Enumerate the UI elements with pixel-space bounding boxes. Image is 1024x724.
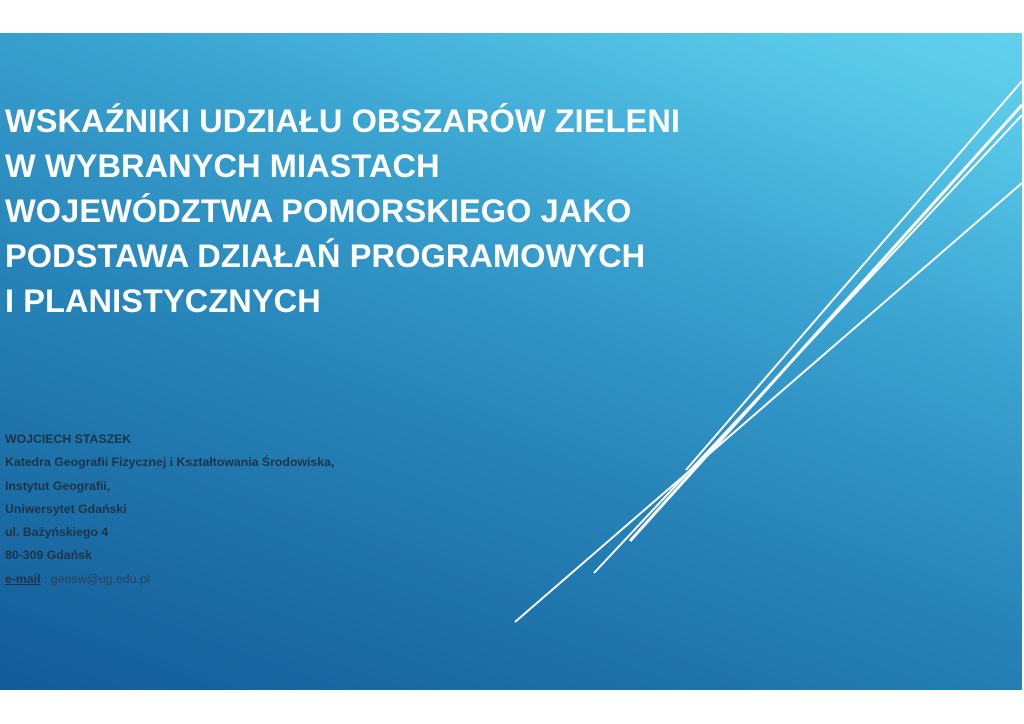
title-line-3: WOJEWÓDZTWA POMORSKIEGO JAKO <box>5 189 785 234</box>
author-contact-block: WOJCIECH STASZEK Katedra Geografii Fizyc… <box>5 428 565 591</box>
street-address: ul. Bażyńskiego 4 <box>5 521 565 544</box>
page-title: WSKAŹNIKI UDZIAŁU OBSZARÓW ZIELENI W WYB… <box>5 99 785 324</box>
university-name: Uniwersytet Gdański <box>5 498 565 521</box>
slide-background-panel: WSKAŹNIKI UDZIAŁU OBSZARÓW ZIELENI W WYB… <box>0 33 1022 690</box>
email-address[interactable]: : geosw@ug.edu.pl <box>41 572 150 586</box>
department-name: Katedra Geografii Fizycznej i Kształtowa… <box>5 451 565 474</box>
slide-root: WSKAŹNIKI UDZIAŁU OBSZARÓW ZIELENI W WYB… <box>0 0 1024 724</box>
email-row: e-mail : geosw@ug.edu.pl <box>5 568 565 591</box>
email-label: e-mail <box>5 572 41 586</box>
title-line-4: PODSTAWA DZIAŁAŃ PROGRAMOWYCH <box>5 234 785 279</box>
title-line-5: I PLANISTYCZNYCH <box>5 279 785 324</box>
author-name: WOJCIECH STASZEK <box>5 428 565 451</box>
title-line-2: W WYBRANYCH MIASTACH <box>5 144 785 189</box>
institute-name: Instytut Geografii, <box>5 475 565 498</box>
postal-city: 80-309 Gdańsk <box>5 544 565 567</box>
title-line-1: WSKAŹNIKI UDZIAŁU OBSZARÓW ZIELENI <box>5 99 785 144</box>
